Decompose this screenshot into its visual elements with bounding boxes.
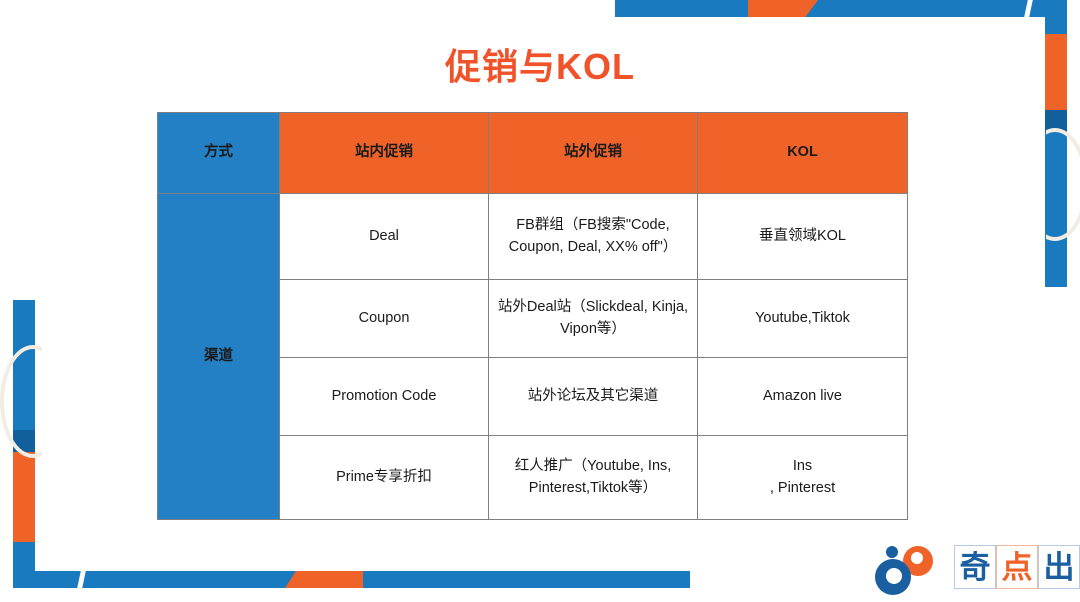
row-group-label-channel: 渠道 — [158, 194, 280, 520]
brand-logo: 奇 点 出 海 — [872, 542, 1068, 598]
slide-canvas: 促销与KOL 方式 站内促销 站外促销 KOL 渠道 Deal FB群组（FB搜… — [0, 0, 1080, 602]
promotion-kol-table-wrapper: 方式 站内促销 站外促销 KOL 渠道 Deal FB群组（FB搜索"Code,… — [157, 112, 907, 520]
cell-onsite-4: Prime专享折扣 — [280, 436, 489, 520]
decor-top-blue-bar — [615, 0, 1062, 17]
cell-offsite-1: FB群组（FB搜索"Code, Coupon, Deal, XX% off"） — [489, 194, 698, 280]
header-cell-offsite-promo: 站外促销 — [489, 113, 698, 194]
page-title: 促销与KOL — [0, 38, 1080, 90]
header-cell-method: 方式 — [158, 113, 280, 194]
cell-kol-4: Ins , Pinterest — [698, 436, 908, 520]
table-row: 渠道 Deal FB群组（FB搜索"Code, Coupon, Deal, XX… — [158, 194, 908, 280]
logo-char-3: 出 — [1038, 545, 1080, 589]
decor-bottom-orange-accent — [285, 571, 363, 588]
cell-onsite-3: Promotion Code — [280, 358, 489, 436]
decor-right-arc — [1022, 128, 1080, 241]
logo-mark-icon — [872, 544, 944, 596]
logo-char-1: 奇 — [954, 545, 996, 589]
cell-kol-1: 垂直领域KOL — [698, 194, 908, 280]
decor-left-arc — [0, 345, 66, 458]
promotion-kol-table: 方式 站内促销 站外促销 KOL 渠道 Deal FB群组（FB搜索"Code,… — [157, 112, 908, 520]
decor-left-orange-accent — [13, 452, 35, 542]
cell-kol-3: Amazon live — [698, 358, 908, 436]
table-header-row: 方式 站内促销 站外促销 KOL — [158, 113, 908, 194]
header-cell-kol: KOL — [698, 113, 908, 194]
header-cell-onsite-promo: 站内促销 — [280, 113, 489, 194]
cell-offsite-2: 站外Deal站（Slickdeal, Kinja, Vipon等） — [489, 280, 698, 358]
cell-onsite-1: Deal — [280, 194, 489, 280]
cell-offsite-3: 站外论坛及其它渠道 — [489, 358, 698, 436]
cell-offsite-4: 红人推广（Youtube, Ins, Pinterest,Tiktok等） — [489, 436, 698, 520]
logo-char-2: 点 — [996, 545, 1038, 589]
cell-kol-2: Youtube,Tiktok — [698, 280, 908, 358]
logo-wordmark: 奇 点 出 海 — [954, 545, 1080, 589]
cell-onsite-2: Coupon — [280, 280, 489, 358]
